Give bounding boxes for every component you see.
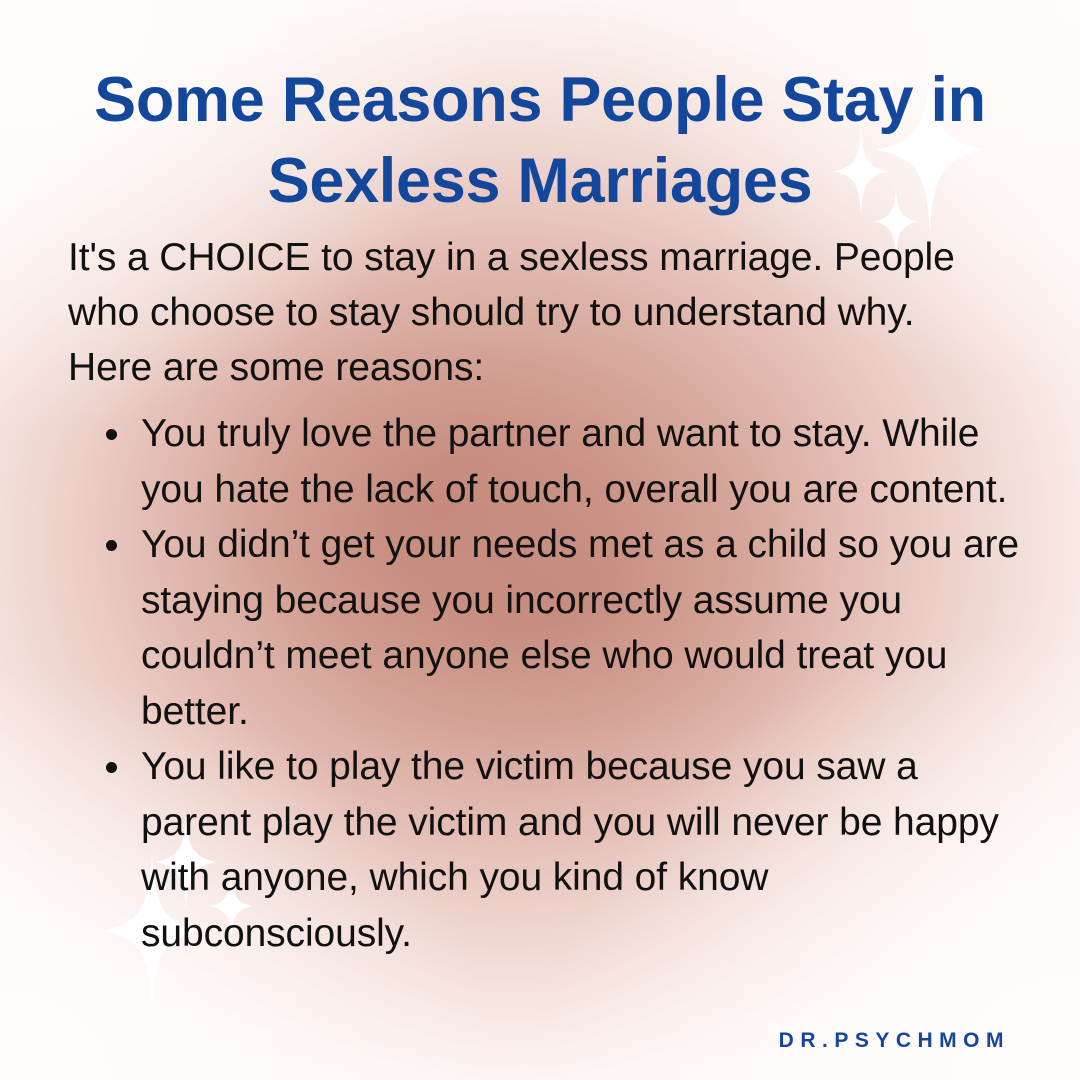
- list-item: You didn’t get your needs met as a child…: [94, 517, 1024, 739]
- reasons-list: You truly love the partner and want to s…: [94, 406, 1024, 961]
- intro-paragraph: It's a CHOICE to stay in a sexless marri…: [68, 230, 968, 395]
- list-item: You like to play the victim because you …: [94, 739, 1024, 961]
- list-item-text: You didn’t get your needs met as a child…: [141, 523, 1019, 733]
- list-item-text: You truly love the partner and want to s…: [141, 412, 1007, 511]
- poster-content: Some Reasons People Stay in Sexless Marr…: [0, 0, 1080, 1080]
- list-item-text: You like to play the victim because you …: [141, 745, 999, 955]
- page-title-line-1: Some Reasons People Stay in: [46, 60, 1034, 141]
- list-item: You truly love the partner and want to s…: [94, 406, 1024, 517]
- page-title-line-2: Sexless Marriages: [46, 141, 1034, 222]
- page-title: Some Reasons People Stay in Sexless Marr…: [0, 60, 1080, 222]
- brand-watermark: DR.PSYCHMOM: [779, 1029, 1010, 1053]
- poster-canvas: Some Reasons People Stay in Sexless Marr…: [0, 0, 1080, 1080]
